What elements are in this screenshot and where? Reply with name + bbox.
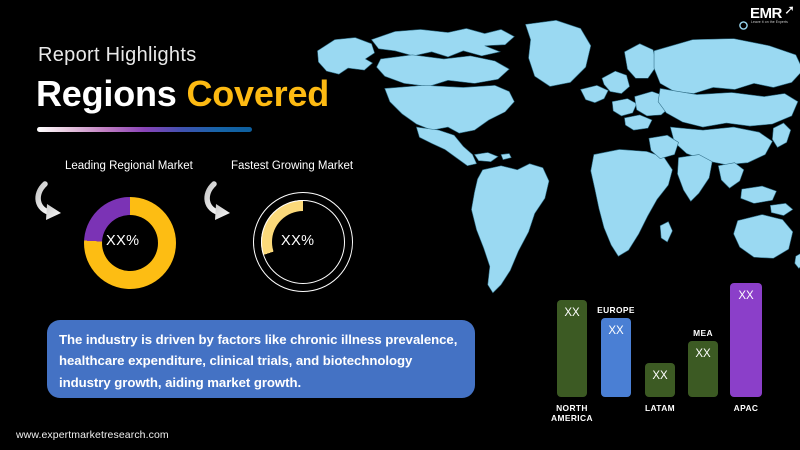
page-eyebrow: Report Highlights [38,44,197,67]
page-title: Regions Covered [36,76,329,112]
slide-canvas: Report Highlights Regions Covered Leadin… [0,0,800,450]
donut-1-value: XX% [106,233,139,249]
page-title-part2: Covered [186,73,329,114]
bar-value: XX [688,348,718,360]
bar-value: XX [601,325,631,337]
bar-label-latam: LATAM [628,403,692,413]
bar-mea: XX [688,341,718,397]
emr-logo[interactable]: ➚ EMR Leave it on the Experts [748,3,796,31]
title-divider [37,127,252,132]
bar-latam: XX [645,363,675,397]
bar-europe: XX [601,318,631,397]
donut-2-title: Fastest Growing Market [231,160,353,172]
bar-apac: XX [730,283,762,397]
curved-arrow-icon [34,178,76,222]
bar-value: XX [645,370,675,382]
regional-bar-chart: XXNORTHAMERICAXXEUROPEXXLATAMXXMEAXXAPAC [540,270,800,435]
logo-dot-icon [739,17,748,26]
bar-value: XX [557,307,587,319]
up-right-arrow-icon: ➚ [784,3,795,16]
bar-label-mea: MEA [671,328,735,338]
world-map [295,2,800,302]
bar-value: XX [730,290,762,302]
donut-2-value: XX% [281,233,314,249]
donut-1-title: Leading Regional Market [65,160,193,172]
insight-callout-box: The industry is driven by factors like c… [47,320,475,398]
bar-label-europe: EUROPE [584,305,648,315]
bar-label-north-america: NORTHAMERICA [540,403,604,423]
page-title-part1: Regions [36,73,177,114]
curved-arrow-icon [203,178,245,222]
logo-tagline: Leave it on the Experts [751,20,788,24]
footer-url[interactable]: www.expertmarketresearch.com [16,429,169,441]
bar-label-apac: APAC [713,403,779,413]
insight-callout-text: The industry is driven by factors like c… [59,329,459,393]
bar-north-america: XX [557,300,587,397]
